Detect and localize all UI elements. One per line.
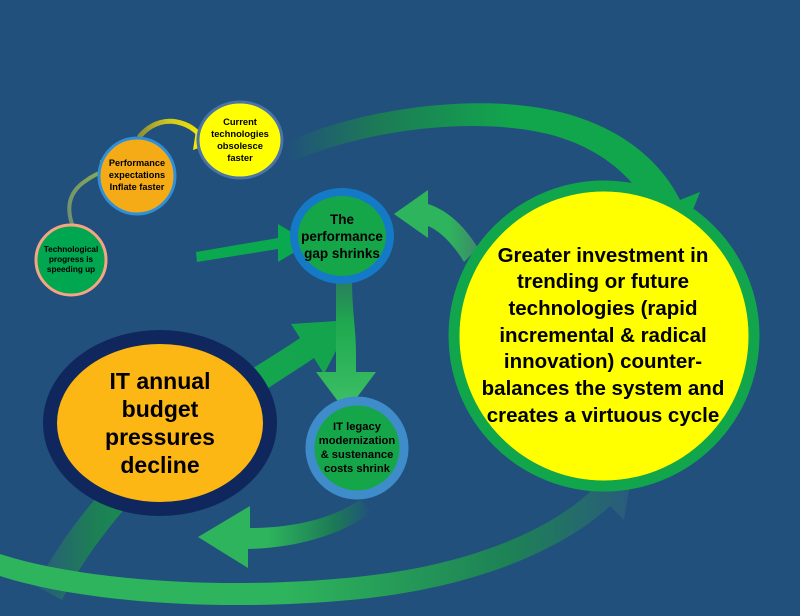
connector-greater-to-gap bbox=[394, 190, 478, 262]
diagram-shapes-layer bbox=[0, 0, 800, 616]
node-technological-progress[interactable] bbox=[36, 225, 106, 295]
node-it-legacy-costs[interactable] bbox=[310, 401, 404, 495]
node-current-technologies[interactable] bbox=[198, 102, 282, 178]
node-performance-gap[interactable] bbox=[294, 192, 390, 280]
node-greater-investment[interactable] bbox=[454, 186, 754, 486]
node-performance-expectations[interactable] bbox=[99, 138, 175, 214]
connector-legacy-to-budget bbox=[198, 500, 372, 568]
diagram-canvas: Technological progress is speeding up Pe… bbox=[0, 0, 800, 616]
node-it-budget-pressures[interactable] bbox=[50, 337, 270, 509]
